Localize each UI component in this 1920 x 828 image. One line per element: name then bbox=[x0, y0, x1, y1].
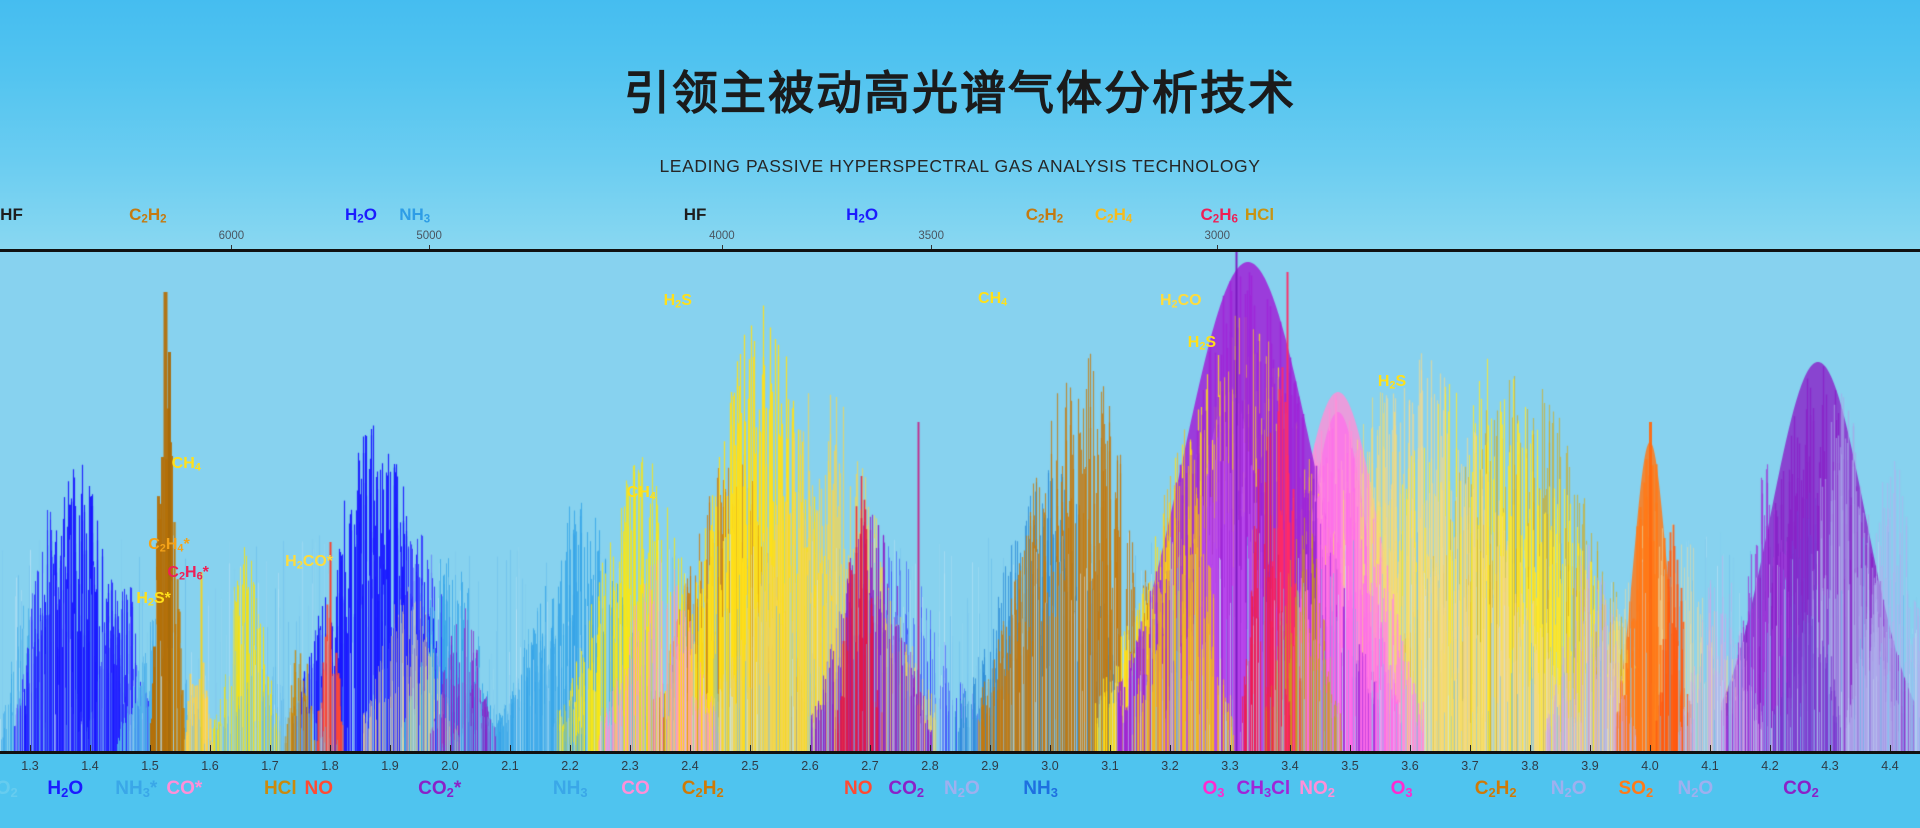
top-species-label-hf: HF bbox=[684, 205, 707, 225]
page-root: 引领主被动高光谱气体分析技术 LEADING PASSIVE HYPERSPEC… bbox=[0, 0, 1920, 828]
axis-bottom-tick-label: 2.4 bbox=[681, 759, 698, 773]
bottom-species-label-n2o: N2O bbox=[944, 778, 980, 800]
spectra-chart: H2SCH4H2COH2SH2SCH4CH4C2H4*C2H6*H2S*H2CO… bbox=[0, 252, 1920, 752]
bottom-species-label-co2: CO2 bbox=[1783, 778, 1819, 800]
axis-top-tick-label: 3500 bbox=[918, 230, 944, 242]
axis-bottom-tick-label: 1.4 bbox=[81, 759, 98, 773]
inplot-label-h2s: H2S bbox=[1188, 334, 1216, 352]
bottom-species-label-n2o: N2O bbox=[1551, 778, 1587, 800]
axis-bottom-tick-label: 1.8 bbox=[321, 759, 338, 773]
axis-bottom-tick-label: 4.0 bbox=[1641, 759, 1658, 773]
bottom-species-label-h2o: H2O bbox=[47, 778, 83, 800]
axis-bottom-tick-label: 2.0 bbox=[441, 759, 458, 773]
axis-bottom-tick-label: 4.3 bbox=[1821, 759, 1838, 773]
bottom-species-label-nh3: NH3 bbox=[553, 778, 588, 800]
page-header: 引领主被动高光谱气体分析技术 LEADING PASSIVE HYPERSPEC… bbox=[0, 0, 1920, 252]
bottom-species-label-co2: CO2 bbox=[888, 778, 924, 800]
top-species-label-c2h2: C2H2 bbox=[1026, 205, 1063, 226]
page-title: 引领主被动高光谱气体分析技术 bbox=[0, 57, 1920, 123]
axis-top-tick-label: 6000 bbox=[219, 230, 245, 242]
bottom-species-label-costar: CO* bbox=[166, 778, 202, 800]
inplot-label-ch4: CH4 bbox=[627, 484, 656, 502]
axis-bottom-tick-label: 3.7 bbox=[1461, 759, 1478, 773]
axis-bottom-tick-label: 2.9 bbox=[981, 759, 998, 773]
bottom-species-label-co: CO bbox=[621, 778, 650, 800]
axis-bottom-tick-label: 3.3 bbox=[1221, 759, 1238, 773]
bottom-species-label-ch3cl: CH3Cl bbox=[1237, 778, 1291, 800]
axis-bottom-tick-label: 2.2 bbox=[561, 759, 578, 773]
axis-bottom-tick-label: 4.4 bbox=[1881, 759, 1898, 773]
axis-bottom-tick-label: 2.7 bbox=[861, 759, 878, 773]
axis-bottom-tick-label: 3.6 bbox=[1401, 759, 1418, 773]
axis-top-tick-label: 3000 bbox=[1204, 230, 1230, 242]
axis-bottom-tick-label: 1.6 bbox=[201, 759, 218, 773]
inplot-label-ch4: CH4 bbox=[172, 455, 201, 473]
top-species-label-hf: HF bbox=[0, 205, 23, 225]
axis-bottom-tick-label: 3.4 bbox=[1281, 759, 1298, 773]
inplot-label-h2s: H2S bbox=[1378, 373, 1406, 391]
bottom-species-label-no: NO bbox=[844, 778, 873, 800]
bottom-species-label-c2h2: C2H2 bbox=[1475, 778, 1517, 800]
bottom-species-label-nh3star: NH3* bbox=[115, 778, 157, 800]
axis-bottom-tick-label: 3.1 bbox=[1101, 759, 1118, 773]
top-species-label-h2o: H2O bbox=[345, 205, 377, 226]
inplot-label-h2costar: H2CO* bbox=[285, 553, 333, 571]
bottom-species-label-n2o: N2O bbox=[1678, 778, 1714, 800]
axis-bottom-tick-label: 3.8 bbox=[1521, 759, 1538, 773]
axis-bottom-tick-label: 4.1 bbox=[1701, 759, 1718, 773]
bottom-species-label-hcl: HCl bbox=[264, 778, 297, 800]
bottom-species-label-co2star: CO2* bbox=[418, 778, 461, 800]
bottom-species-label-nh3: NH3 bbox=[1023, 778, 1058, 800]
bottom-species-label-c2h2: C2H2 bbox=[682, 778, 724, 800]
bottom-species-label-o3: O3 bbox=[1202, 778, 1224, 800]
inplot-label-h2s: H2S bbox=[664, 292, 692, 310]
top-species-label-c2h6: C2H6 bbox=[1200, 205, 1237, 226]
inplot-label-c2h4star: C2H4* bbox=[148, 536, 189, 554]
axis-bottom-tick-label: 1.9 bbox=[381, 759, 398, 773]
axis-bottom-tick-label: 1.7 bbox=[261, 759, 278, 773]
axis-bottom-tick-label: 3.5 bbox=[1341, 759, 1358, 773]
page-subtitle: LEADING PASSIVE HYPERSPECTRAL GAS ANALYS… bbox=[0, 156, 1920, 177]
top-species-label-c2h2: C2H2 bbox=[129, 205, 166, 226]
bottom-species-label-no: NO bbox=[304, 778, 333, 800]
spectra-canvas bbox=[0, 252, 1920, 752]
bottom-species-label-no2: NO2 bbox=[1299, 778, 1335, 800]
axis-bottom-tick-label: 1.5 bbox=[141, 759, 158, 773]
inplot-label-c2h6star: C2H6* bbox=[167, 564, 208, 582]
bottom-species-label-o2: O2 bbox=[0, 778, 18, 800]
axis-bottom-tick-label: 2.6 bbox=[801, 759, 818, 773]
axis-bottom-tick-label: 2.3 bbox=[621, 759, 638, 773]
axis-top-tick-label: 5000 bbox=[416, 230, 442, 242]
axis-bottom-tick-label: 3.0 bbox=[1041, 759, 1058, 773]
axis-bottom-tick-label: 2.1 bbox=[501, 759, 518, 773]
axis-bottom-tick-label: 3.9 bbox=[1581, 759, 1598, 773]
axis-bottom-layer: 1.31.41.51.61.71.81.92.02.12.22.32.42.52… bbox=[0, 752, 1920, 828]
axis-bottom-tick-label: 2.8 bbox=[921, 759, 938, 773]
axis-bottom-tick-label: 3.2 bbox=[1161, 759, 1178, 773]
bottom-species-label-so2: SO2 bbox=[1619, 778, 1654, 800]
bottom-species-label-o3: O3 bbox=[1391, 778, 1413, 800]
top-species-label-h2o: H2O bbox=[846, 205, 878, 226]
axis-top-rule bbox=[0, 249, 1920, 252]
axis-bottom-tick-label: 2.5 bbox=[741, 759, 758, 773]
axis-top-tick-label: 4000 bbox=[709, 230, 735, 242]
top-species-label-c2h4: C2H4 bbox=[1095, 205, 1132, 226]
top-species-label-hcl: HCl bbox=[1245, 205, 1274, 225]
inplot-label-ch4: CH4 bbox=[978, 290, 1007, 308]
top-species-label-nh3: NH3 bbox=[399, 205, 430, 226]
axis-bottom-tick-label: 4.2 bbox=[1761, 759, 1778, 773]
inplot-label-h2sstar: H2S* bbox=[136, 590, 171, 608]
axis-bottom-tick-label: 1.3 bbox=[21, 759, 38, 773]
axis-bottom-rule bbox=[0, 751, 1920, 754]
inplot-label-h2co: H2CO bbox=[1160, 292, 1202, 310]
